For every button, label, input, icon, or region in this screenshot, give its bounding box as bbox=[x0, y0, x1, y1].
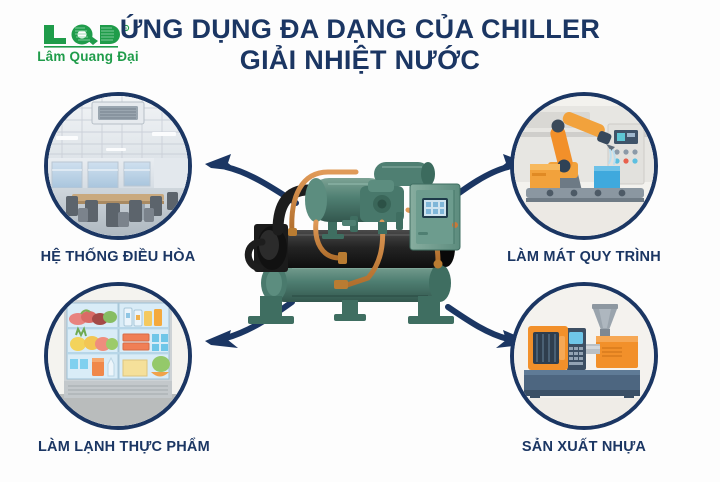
node-food-refrigeration[interactable]: LÀM LẠNH THỰC PHẨM bbox=[38, 282, 198, 455]
water-cooled-chiller-icon bbox=[232, 146, 488, 336]
node-air-conditioning[interactable]: HỆ THỐNG ĐIỀU HÒA bbox=[38, 92, 198, 265]
refrigerated-display-case-icon bbox=[48, 286, 188, 426]
infographic-canvas: R Lâm Quang Đại ỨNG DỤNG ĐA DẠNG CỦA CHI… bbox=[0, 0, 720, 482]
chiller-control-panel bbox=[410, 184, 460, 250]
node-food-refrigeration-label: LÀM LẠNH THỰC PHẨM bbox=[38, 439, 198, 455]
node-process-cooling-label: LÀM MÁT QUY TRÌNH bbox=[504, 249, 664, 265]
node-plastic-manufacturing-label: SẢN XUẤT NHỰA bbox=[504, 439, 664, 455]
page-title-line-2: GIẢI NHIỆT NƯỚC bbox=[110, 45, 610, 76]
center-chiller-unit bbox=[232, 146, 488, 336]
chiller-frame bbox=[248, 296, 454, 324]
injection-molding-machine-icon bbox=[514, 286, 654, 426]
page-title: ỨNG DỤNG ĐA DẠNG CỦA CHILLER GIẢI NHIỆT … bbox=[110, 14, 610, 76]
node-air-conditioning-label: HỆ THỐNG ĐIỀU HÒA bbox=[38, 249, 198, 265]
node-food-refrigeration-image bbox=[44, 282, 192, 430]
node-process-cooling[interactable]: LÀM MÁT QUY TRÌNH bbox=[504, 92, 664, 265]
node-plastic-manufacturing[interactable]: SẢN XUẤT NHỰA bbox=[504, 282, 664, 455]
node-air-conditioning-image bbox=[44, 92, 192, 240]
office-ceiling-ac-icon bbox=[48, 96, 188, 236]
page-title-line-1: ỨNG DỤNG ĐA DẠNG CỦA CHILLER bbox=[110, 14, 610, 45]
robotic-arm-conveyor-icon bbox=[514, 96, 654, 236]
node-plastic-manufacturing-image bbox=[510, 282, 658, 430]
node-process-cooling-image bbox=[510, 92, 658, 240]
